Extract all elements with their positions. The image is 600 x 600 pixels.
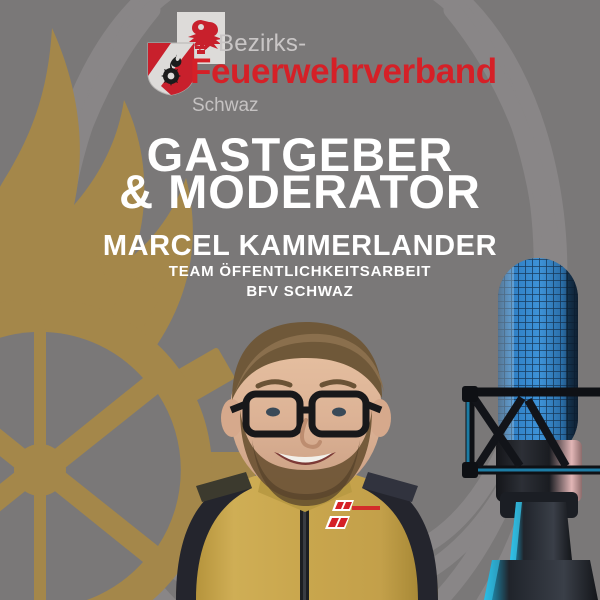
fire-brigade-shield — [147, 42, 195, 96]
poster-canvas: Bezirks- Feuerwehrverband Schwaz GASTGEB… — [0, 0, 600, 600]
headline-line-2: & MODERATOR — [0, 168, 600, 215]
brand-logo: Bezirks- Feuerwehrverband Schwaz — [142, 10, 472, 115]
logo-line-feuerwehrverband: Feuerwehrverband — [190, 54, 497, 89]
logo-line-schwaz: Schwaz — [192, 96, 259, 115]
person-organisation: BFV SCHWAZ — [0, 284, 600, 299]
person-role: TEAM ÖFFENTLICHKEITSARBEIT — [0, 264, 600, 279]
person-name: MARCEL KAMMERLANDER — [0, 232, 600, 261]
